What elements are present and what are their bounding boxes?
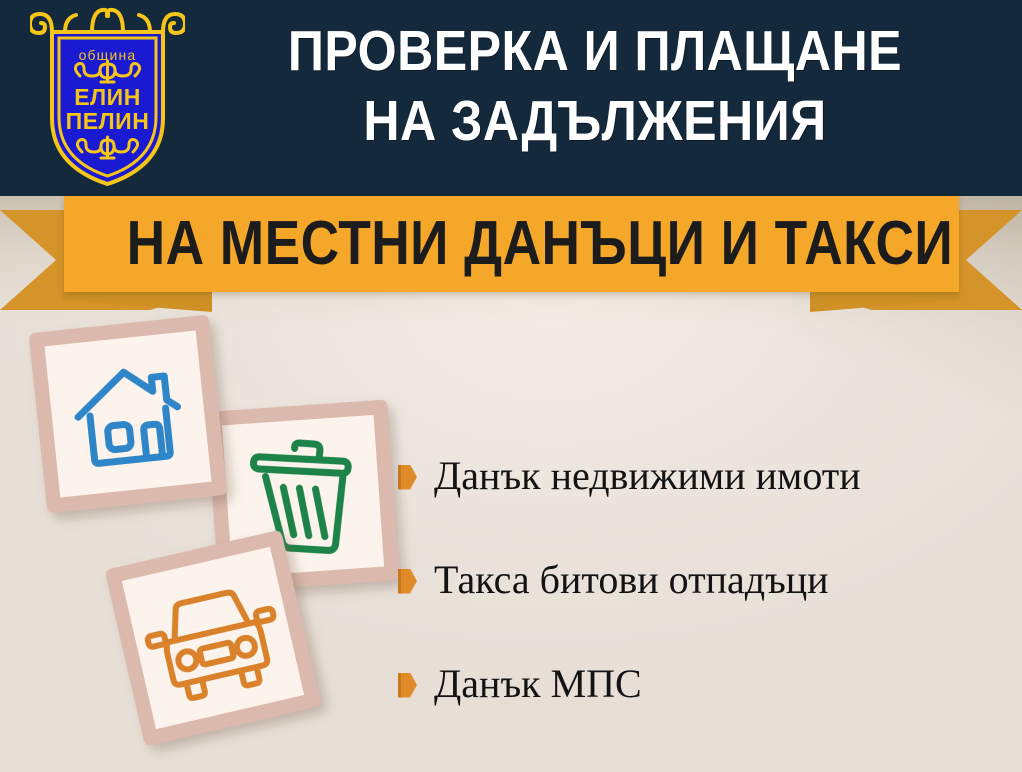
poster-canvas: ПРОВЕРКА И ПЛАЩАНЕ НА ЗАДЪЛЖЕНИЯ bbox=[0, 0, 1022, 772]
page-title-line-2: НА ЗАДЪЛЖЕНИЯ bbox=[234, 87, 956, 157]
list-item[interactable]: Данък МПС bbox=[398, 632, 1018, 736]
stamp-property-tax bbox=[20, 306, 235, 521]
crest-name-line-1: ЕЛИН bbox=[74, 84, 141, 110]
arrow-bullet-icon bbox=[398, 465, 417, 490]
ribbon-bar: НА МЕСТНИ ДАНЪЦИ И ТАКСИ bbox=[64, 196, 959, 292]
tax-type-list: Данък недвижими имоти Такса битови отпад… bbox=[398, 424, 1018, 736]
list-item-label: Данък МПС bbox=[434, 663, 642, 705]
arrow-bullet-icon bbox=[398, 569, 417, 594]
list-item[interactable]: Данък недвижими имоти bbox=[398, 424, 1018, 528]
ribbon-banner: НА МЕСТНИ ДАНЪЦИ И ТАКСИ bbox=[0, 196, 1022, 314]
page-title: ПРОВЕРКА И ПЛАЩАНЕ НА ЗАДЪЛЖЕНИЯ bbox=[234, 17, 956, 156]
crest-name-line-2: ПЕЛИН bbox=[66, 108, 150, 134]
list-item-label: Данък недвижими имоти bbox=[434, 455, 861, 497]
ribbon-label: НА МЕСТНИ ДАНЪЦИ И ТАКСИ bbox=[127, 210, 897, 278]
municipality-crest-logo: община ЕЛИН ПЕЛИН bbox=[30, 6, 185, 188]
arrow-bullet-icon bbox=[398, 673, 417, 698]
page-title-line-1: ПРОВЕРКА И ПЛАЩАНЕ bbox=[234, 17, 956, 87]
list-item[interactable]: Такса битови отпадъци bbox=[398, 528, 1018, 632]
list-item-label: Такса битови отпадъци bbox=[434, 559, 829, 601]
